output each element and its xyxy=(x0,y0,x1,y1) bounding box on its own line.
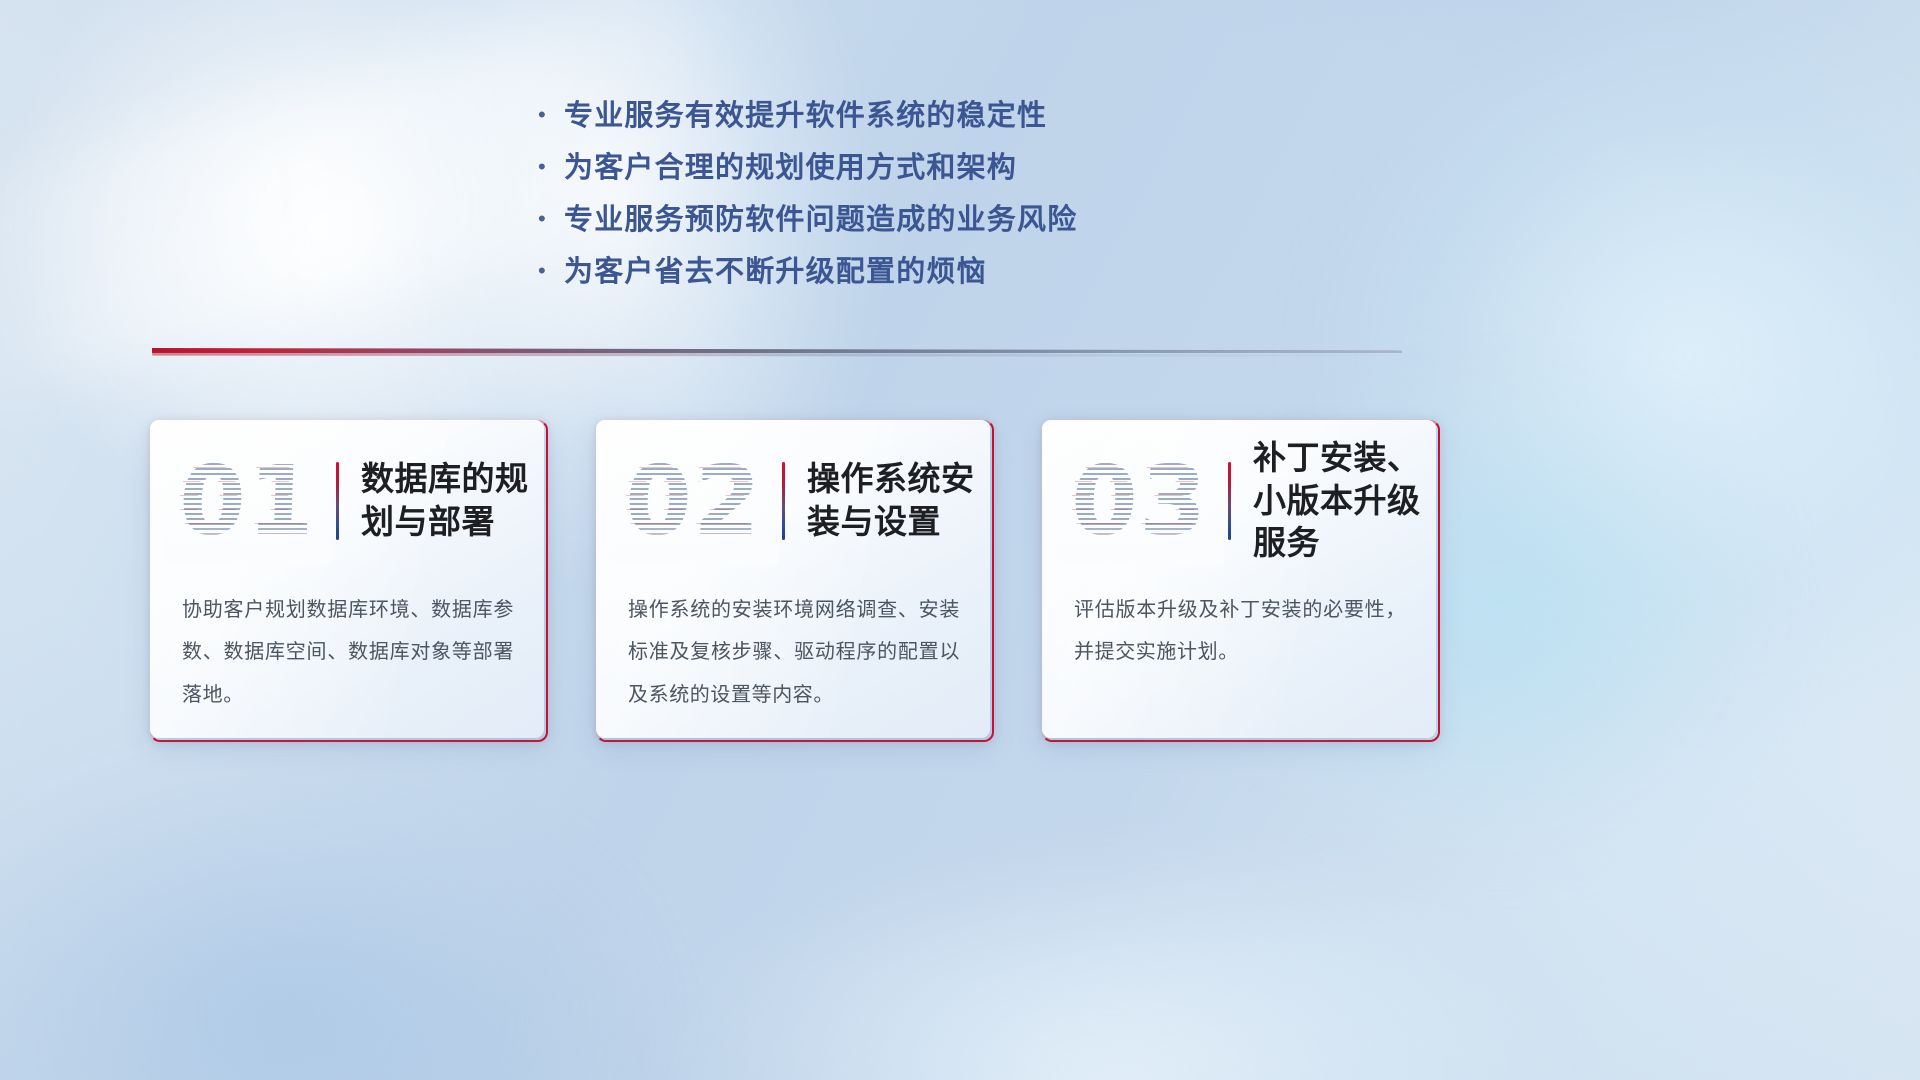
list-item: • 专业服务预防软件问题造成的业务风险 xyxy=(538,196,1358,248)
list-item: • 为客户合理的规划使用方式和架构 xyxy=(538,144,1358,196)
card-number-watermark: 03 03 xyxy=(1056,442,1224,560)
bullet-dot-icon: • xyxy=(538,156,564,178)
card-number-watermark: 01 01 xyxy=(164,442,332,560)
divider-line-primary xyxy=(152,348,1402,353)
service-card-01[interactable]: 01 01 数据库的规划与部署 协助客户规划数据库环境、数据库参数、数据库空间、… xyxy=(150,420,548,742)
card-surface: 03 03 补丁安装、小版本升级服务 评估版本升级及补丁安装的必要性，并提交实施… xyxy=(1042,420,1436,738)
bullet-text: 专业服务有效提升软件系统的稳定性 xyxy=(564,92,1047,134)
card-header: 03 03 补丁安装、小版本升级服务 xyxy=(1042,436,1436,566)
card-surface: 01 01 数据库的规划与部署 协助客户规划数据库环境、数据库参数、数据库空间、… xyxy=(150,420,544,738)
card-title-divider-bar xyxy=(782,462,785,540)
bullet-dot-icon: • xyxy=(538,260,564,282)
card-number-text: 02 xyxy=(624,453,765,549)
card-title: 操作系统安装与设置 xyxy=(807,458,990,544)
list-item: • 为客户省去不断升级配置的烦恼 xyxy=(538,248,1358,300)
section-divider xyxy=(152,348,1402,364)
bullet-text: 为客户合理的规划使用方式和架构 xyxy=(564,144,1017,186)
card-surface: 02 02 操作系统安装与设置 操作系统的安装环境网络调查、安装标准及复核步骤、… xyxy=(596,420,990,738)
card-number-text: 01 xyxy=(178,453,319,549)
bullet-dot-icon: • xyxy=(538,104,564,126)
card-header: 01 01 数据库的规划与部署 xyxy=(150,436,544,566)
bullet-text: 专业服务预防软件问题造成的业务风险 xyxy=(564,196,1077,238)
service-card-row: 01 01 数据库的规划与部署 协助客户规划数据库环境、数据库参数、数据库空间、… xyxy=(150,420,1440,742)
card-title-divider-bar xyxy=(1228,462,1231,540)
card-title: 补丁安装、小版本升级服务 xyxy=(1253,437,1436,566)
card-number-watermark: 02 02 xyxy=(610,442,778,560)
card-description: 评估版本升级及补丁安装的必要性，并提交实施计划。 xyxy=(1074,588,1406,673)
card-header: 02 02 操作系统安装与设置 xyxy=(596,436,990,566)
card-title-divider-bar xyxy=(336,462,339,540)
card-description: 操作系统的安装环境网络调查、安装标准及复核步骤、驱动程序的配置以及系统的设置等内… xyxy=(628,588,960,715)
card-title: 数据库的规划与部署 xyxy=(361,458,544,544)
list-item: • 专业服务有效提升软件系统的稳定性 xyxy=(538,92,1358,144)
bullet-dot-icon: • xyxy=(538,208,564,230)
bullet-text: 为客户省去不断升级配置的烦恼 xyxy=(564,248,987,290)
card-description: 协助客户规划数据库环境、数据库参数、数据库空间、数据库对象等部署落地。 xyxy=(182,588,514,715)
card-number-text: 03 xyxy=(1070,453,1211,549)
service-card-02[interactable]: 02 02 操作系统安装与设置 操作系统的安装环境网络调查、安装标准及复核步骤、… xyxy=(596,420,994,742)
benefits-bullet-list: • 专业服务有效提升软件系统的稳定性 • 为客户合理的规划使用方式和架构 • 专… xyxy=(538,92,1358,300)
service-card-03[interactable]: 03 03 补丁安装、小版本升级服务 评估版本升级及补丁安装的必要性，并提交实施… xyxy=(1042,420,1440,742)
